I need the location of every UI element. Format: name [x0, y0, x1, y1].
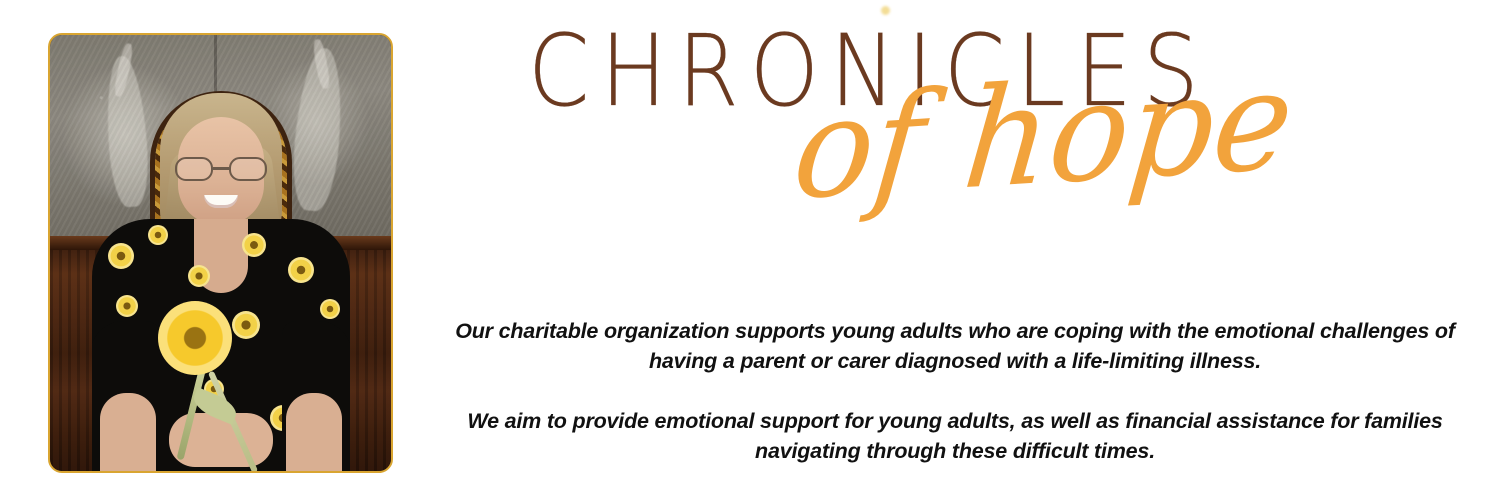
page-subtitle-script: of hope: [788, 52, 1298, 220]
sunflower-print: [148, 225, 168, 245]
mission-paragraph-2: We aim to provide emotional support for …: [420, 406, 1490, 466]
forearm-right: [286, 393, 342, 471]
sunflower-print: [288, 257, 314, 283]
glasses-lens-left: [175, 157, 213, 181]
sunflower-print: [108, 243, 134, 269]
sunflower-print: [242, 233, 266, 257]
person-figure: [91, 71, 351, 471]
glasses-icon: [175, 157, 267, 181]
photo-content: [50, 35, 391, 471]
portrait-photo: [48, 33, 393, 473]
sunflower-print: [320, 299, 340, 319]
glasses-lens-right: [229, 157, 267, 181]
mission-paragraph-1: Our charitable organization supports you…: [420, 316, 1490, 376]
sunflower-print: [116, 295, 138, 317]
sunflower-petals: [158, 301, 232, 375]
hero-banner: CHRONICLES of hope Our charitable organi…: [0, 0, 1500, 500]
sunflower-dress: [92, 219, 350, 471]
held-sunflower: [158, 301, 232, 375]
glasses-bridge: [213, 167, 229, 170]
forearm-left: [100, 393, 156, 471]
sunflower-print: [232, 311, 260, 339]
sunflower-print: [188, 265, 210, 287]
